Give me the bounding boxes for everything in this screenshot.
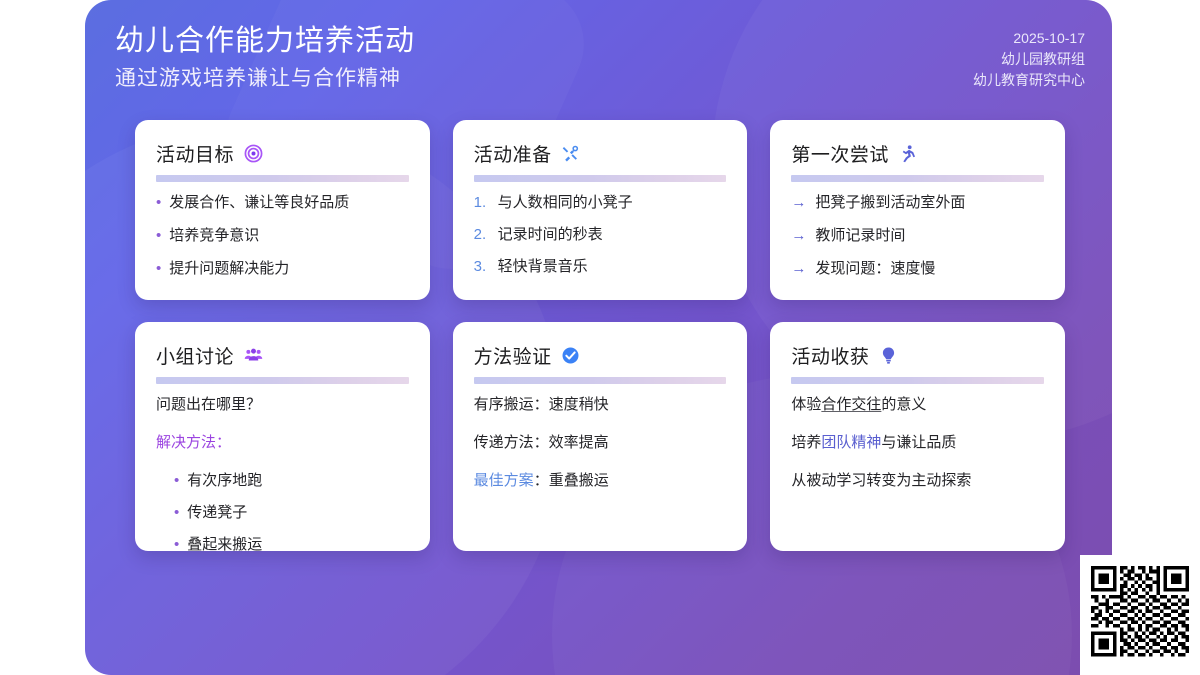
slide-header: 幼儿合作能力培养活动 通过游戏培养谦让与合作精神 2025-10-17 幼儿园教… bbox=[85, 0, 1112, 112]
list-item-text: 发现问题：速度慢 bbox=[815, 259, 935, 279]
list-item-text: 叠起来搬运 bbox=[187, 535, 262, 555]
arrow-list: → 把凳子搬到活动室外面 → 教师记录时间 → 发现问题：速度慢 bbox=[791, 193, 1044, 279]
bullet-marker: • bbox=[156, 226, 161, 246]
meta-date: 2025-10-17 bbox=[973, 28, 1085, 49]
card-body: • 发展合作、谦让等良好品质 • 培养竞争意识 • 提升问题解决能力 bbox=[156, 193, 409, 279]
best-solution-label: 最佳方案 bbox=[474, 472, 534, 489]
title-block: 幼儿合作能力培养活动 通过游戏培养谦让与合作精神 bbox=[115, 22, 415, 94]
list-item-text: 有次序地跑 bbox=[187, 471, 262, 491]
list-item: 3. 轻快背景音乐 bbox=[474, 257, 727, 277]
list-item-text: 提升问题解决能力 bbox=[169, 259, 289, 279]
list-item: 2. 记录时间的秒表 bbox=[474, 225, 727, 245]
target-icon bbox=[243, 144, 263, 164]
list-item: • 有次序地跑 bbox=[174, 471, 409, 491]
card-header: 第一次尝试 bbox=[791, 140, 1044, 167]
number-marker: 3. bbox=[474, 257, 490, 277]
card-header: 活动准备 bbox=[474, 140, 727, 167]
bullet-marker: • bbox=[174, 535, 179, 555]
meta-org: 幼儿园教研组 bbox=[973, 49, 1085, 70]
page-title: 幼儿合作能力培养活动 bbox=[115, 22, 415, 60]
meta-center: 幼儿教育研究中心 bbox=[973, 70, 1085, 91]
outcome-post: 与谦让品质 bbox=[881, 434, 956, 451]
card-header: 小组讨论 bbox=[156, 342, 409, 369]
outcome-highlight: 合作交往 bbox=[821, 396, 881, 413]
meta-block: 2025-10-17 幼儿园教研组 幼儿教育研究中心 bbox=[973, 28, 1085, 91]
card-title: 活动准备 bbox=[474, 140, 552, 167]
arrow-marker: → bbox=[791, 193, 807, 213]
bullet-marker: • bbox=[156, 259, 161, 279]
list-item: → 把凳子搬到活动室外面 bbox=[791, 193, 1044, 213]
card-verification[interactable]: 方法验证 有序搬运：速度稍快 bbox=[453, 322, 748, 551]
card-body: 1. 与人数相同的小凳子 2. 记录时间的秒表 3. 轻快背景音乐 bbox=[474, 193, 727, 277]
check-circle-icon bbox=[561, 346, 581, 366]
list-item-text: 教师记录时间 bbox=[815, 226, 905, 246]
card-header: 活动收获 bbox=[791, 342, 1044, 369]
card-divider bbox=[474, 175, 727, 182]
list-item: • 培养竞争意识 bbox=[156, 226, 409, 246]
bullet-marker: • bbox=[174, 503, 179, 523]
outcome-line: 体验合作交往的意义 bbox=[791, 395, 1044, 415]
best-solution-text: ：重叠搬运 bbox=[534, 472, 609, 489]
qr-code[interactable] bbox=[1091, 566, 1189, 664]
outcome-post: 的意义 bbox=[881, 396, 926, 413]
card-header: 活动目标 bbox=[156, 140, 409, 167]
lightbulb-icon bbox=[878, 346, 898, 366]
verification-line-best: 最佳方案：重叠搬运 bbox=[474, 471, 727, 491]
number-marker: 1. bbox=[474, 193, 490, 213]
list-item: • 叠起来搬运 bbox=[174, 535, 409, 555]
card-title: 活动目标 bbox=[156, 140, 234, 167]
arrow-marker: → bbox=[791, 226, 807, 246]
arrow-marker: → bbox=[791, 259, 807, 279]
number-marker: 2. bbox=[474, 225, 490, 245]
slide-panel: 幼儿合作能力培养活动 通过游戏培养谦让与合作精神 2025-10-17 幼儿园教… bbox=[85, 0, 1112, 675]
card-body: 有序搬运：速度稍快 传递方法：效率提高 最佳方案：重叠搬运 bbox=[474, 395, 727, 491]
card-title: 方法验证 bbox=[474, 342, 552, 369]
card-first-try[interactable]: 第一次尝试 → 把凳子搬到活动室外 bbox=[770, 120, 1065, 300]
list-item-text: 与人数相同的小凳子 bbox=[498, 193, 633, 213]
card-body: 问题出在哪里？ 解决方法： • 有次序地跑 • 传递凳子 bbox=[156, 395, 409, 555]
card-title: 第一次尝试 bbox=[791, 140, 889, 167]
outcome-line: 培养团队精神与谦让品质 bbox=[791, 433, 1044, 453]
running-person-icon bbox=[898, 144, 918, 164]
outcome-pre: 体验 bbox=[791, 396, 821, 413]
list-item-text: 把凳子搬到活动室外面 bbox=[815, 193, 965, 213]
people-icon bbox=[243, 346, 263, 366]
tools-icon bbox=[561, 144, 581, 164]
outcome-line: 从被动学习转变为主动探索 bbox=[791, 471, 1044, 491]
numbered-list: 1. 与人数相同的小凳子 2. 记录时间的秒表 3. 轻快背景音乐 bbox=[474, 193, 727, 277]
card-outcomes[interactable]: 活动收获 体验合作交往的意义 bbox=[770, 322, 1065, 551]
card-body: 体验合作交往的意义 培养团队精神与谦让品质 从被动学习转变为主动探索 bbox=[791, 395, 1044, 491]
list-item-text: 发展合作、谦让等良好品质 bbox=[169, 193, 349, 213]
verification-text: 传递方法：效率提高 bbox=[474, 434, 609, 451]
card-divider bbox=[474, 377, 727, 384]
card-divider bbox=[156, 175, 409, 182]
bullet-marker: • bbox=[156, 193, 161, 213]
card-title: 小组讨论 bbox=[156, 342, 234, 369]
card-title: 活动收获 bbox=[791, 342, 869, 369]
verification-line: 有序搬运：速度稍快 bbox=[474, 395, 727, 415]
list-item-text: 培养竞争意识 bbox=[169, 226, 259, 246]
verification-line: 传递方法：效率提高 bbox=[474, 433, 727, 453]
outcome-pre: 从被动学习转变为主动探索 bbox=[791, 472, 971, 489]
list-item-text: 传递凳子 bbox=[187, 503, 247, 523]
card-grid: 活动目标 • bbox=[135, 120, 1065, 551]
list-item: 1. 与人数相同的小凳子 bbox=[474, 193, 727, 213]
bullet-marker: • bbox=[174, 471, 179, 491]
slide-canvas: 幼儿合作能力培养活动 通过游戏培养谦让与合作精神 2025-10-17 幼儿园教… bbox=[0, 0, 1200, 675]
card-goals[interactable]: 活动目标 • bbox=[135, 120, 430, 300]
card-header: 方法验证 bbox=[474, 342, 727, 369]
outcome-highlight: 团队精神 bbox=[821, 434, 881, 451]
card-divider bbox=[791, 175, 1044, 182]
list-item: → 教师记录时间 bbox=[791, 226, 1044, 246]
solution-list: • 有次序地跑 • 传递凳子 • 叠起来搬运 bbox=[156, 471, 409, 555]
list-item-text: 记录时间的秒表 bbox=[498, 225, 603, 245]
solution-label: 解决方法： bbox=[156, 433, 409, 453]
card-row-bottom: 小组讨论 bbox=[135, 322, 1065, 551]
bullet-list: • 发展合作、谦让等良好品质 • 培养竞争意识 • 提升问题解决能力 bbox=[156, 193, 409, 279]
card-row-top: 活动目标 • bbox=[135, 120, 1065, 300]
card-preparation[interactable]: 活动准备 bbox=[453, 120, 748, 300]
card-body: → 把凳子搬到活动室外面 → 教师记录时间 → 发现问题：速度慢 bbox=[791, 193, 1044, 279]
card-divider bbox=[156, 377, 409, 384]
list-item: • 提升问题解决能力 bbox=[156, 259, 409, 279]
card-divider bbox=[791, 377, 1044, 384]
outcome-pre: 培养 bbox=[791, 434, 821, 451]
page-subtitle: 通过游戏培养谦让与合作精神 bbox=[115, 64, 415, 94]
list-item-text: 轻快背景音乐 bbox=[498, 257, 588, 277]
list-item: • 传递凳子 bbox=[174, 503, 409, 523]
discussion-question: 问题出在哪里？ bbox=[156, 395, 409, 415]
list-item: • 发展合作、谦让等良好品质 bbox=[156, 193, 409, 213]
qr-code-container[interactable] bbox=[1080, 555, 1200, 675]
card-discussion[interactable]: 小组讨论 bbox=[135, 322, 430, 551]
list-item: → 发现问题：速度慢 bbox=[791, 259, 1044, 279]
verification-text: 有序搬运：速度稍快 bbox=[474, 396, 609, 413]
